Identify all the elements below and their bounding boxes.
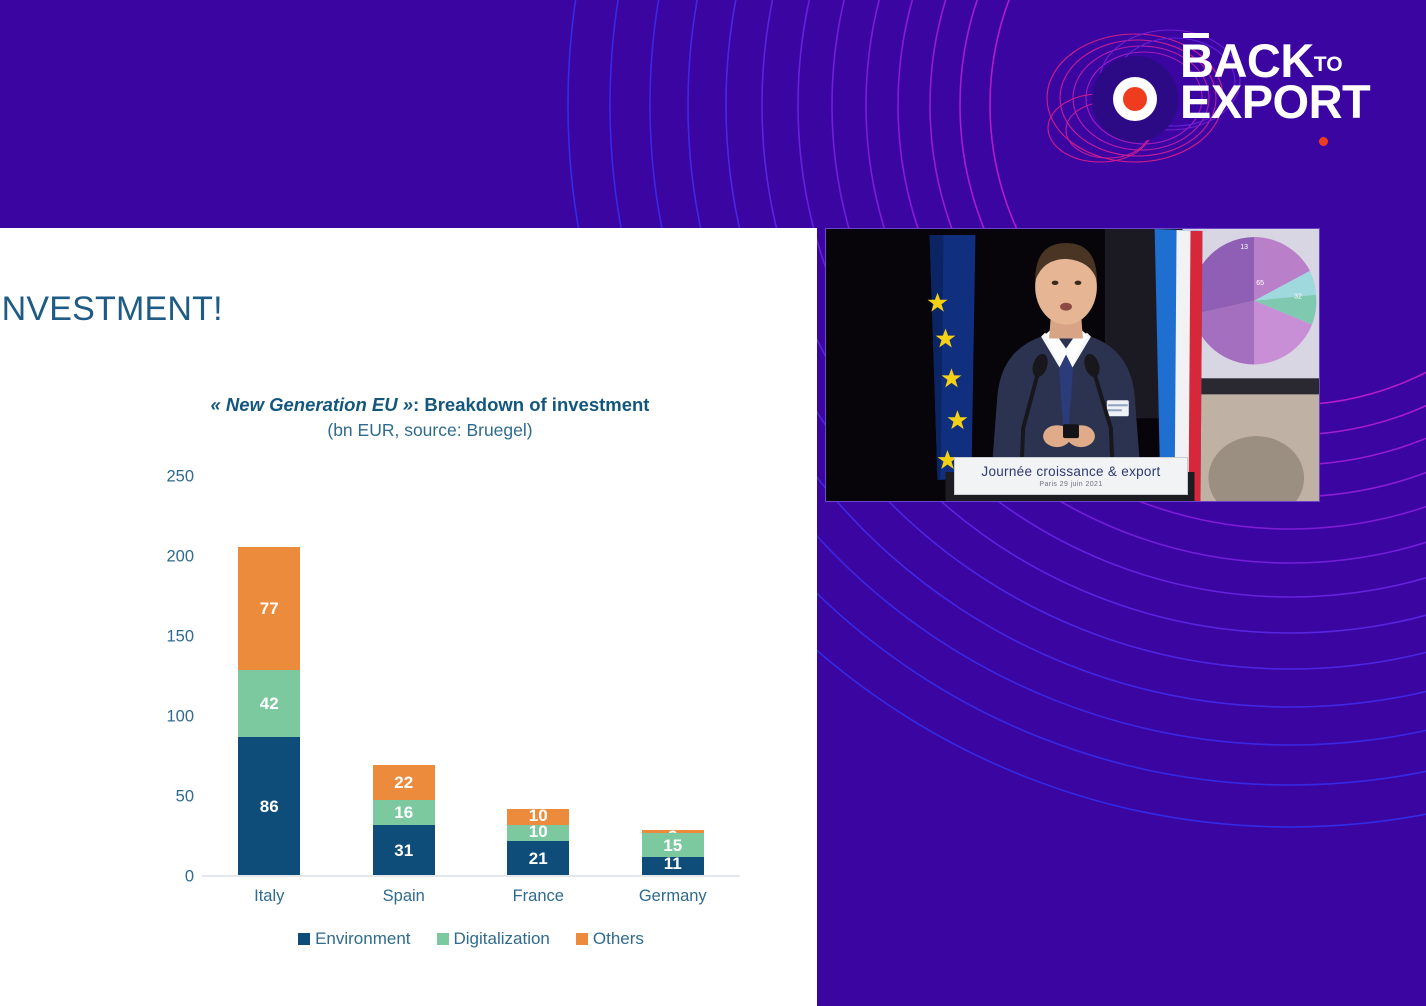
back-to-export-logo: BACKTO EXPORT [1020, 18, 1420, 178]
plot-area: 774286Italy221631Spain101021France21511G… [202, 477, 740, 877]
logo-target-ring [1113, 77, 1157, 121]
svg-text:32: 32 [1294, 294, 1302, 301]
bar-segment-others[interactable]: 77 [238, 547, 300, 670]
logo-target-dot [1123, 87, 1147, 111]
lectern-sign-title: Journée croissance & export [981, 464, 1160, 479]
bar-segment-digitalization[interactable]: 42 [238, 670, 300, 737]
bar-value-label: 21 [529, 850, 548, 867]
bar-value-label: 86 [260, 798, 279, 815]
presentation-slide: BACKTO EXPORT INVESTMENT! « New Generati… [0, 0, 1426, 1006]
legend-swatch [298, 933, 310, 945]
logo-target-icon [1092, 56, 1178, 142]
y-axis-tick-250: 250 [166, 467, 194, 486]
x-axis-label-spain: Spain [337, 887, 472, 906]
bar-value-label: 77 [260, 600, 279, 617]
stacked-bar[interactable]: 21511 [642, 830, 704, 875]
bar-value-label: 11 [664, 855, 682, 872]
y-axis-tick-200: 200 [166, 547, 194, 566]
x-axis-label-germany: Germany [606, 887, 741, 906]
bar-segment-environment[interactable]: 11 [642, 857, 704, 875]
bar-segment-environment[interactable]: 86 [238, 737, 300, 875]
y-axis: 250200150100500 [140, 477, 202, 877]
svg-text:13: 13 [1240, 244, 1248, 251]
x-axis-label-italy: Italy [202, 887, 337, 906]
logo-line-export: EXPORT [1180, 81, 1370, 122]
lectern-sign: Journée croissance & export Paris 29 jui… [954, 457, 1188, 495]
chart-subtitle: (bn EUR, source: Bruegel) [150, 420, 710, 441]
bar-group-italy: 774286Italy [202, 475, 337, 875]
chart-title-italic-part: « New Generation EU » [211, 394, 414, 415]
chart-title: « New Generation EU »: Breakdown of inve… [150, 393, 710, 418]
bar-segment-digitalization[interactable]: 10 [507, 825, 569, 841]
stacked-bar[interactable]: 101021 [507, 809, 569, 875]
conference-speaker-photo[interactable]: 13 65 32 [825, 228, 1320, 502]
bar-group-spain: 221631Spain [337, 475, 472, 875]
bar-segment-environment[interactable]: 21 [507, 841, 569, 875]
legend-item-digitalization[interactable]: Digitalization [437, 929, 550, 949]
legend-label: Digitalization [454, 929, 550, 949]
logo-text-export: EXPORT [1180, 75, 1370, 128]
page-title: INVESTMENT! [0, 290, 223, 329]
svg-text:65: 65 [1256, 280, 1264, 287]
bar-value-label: 31 [394, 842, 413, 859]
lectern-sign-subtitle: Paris 29 juin 2021 [1039, 481, 1102, 488]
y-axis-tick-100: 100 [166, 707, 194, 726]
bar-segment-environment[interactable]: 31 [373, 825, 435, 875]
stacked-bar[interactable]: 221631 [373, 765, 435, 875]
legend-item-others[interactable]: Others [576, 929, 644, 949]
bar-value-label: 15 [663, 837, 682, 854]
chart-legend: EnvironmentDigitalizationOthers [202, 929, 740, 949]
chart-title-rest-part: : Breakdown of investment [413, 394, 649, 415]
legend-label: Others [593, 929, 644, 949]
stacked-bar[interactable]: 774286 [238, 547, 300, 875]
legend-swatch [437, 933, 449, 945]
bar-value-label: 10 [529, 823, 548, 840]
bar-segment-digitalization[interactable]: 16 [373, 800, 435, 826]
chart-plot-wrapper: 250200150100500 774286Italy221631Spain10… [140, 477, 740, 877]
logo-text-to: TO [1314, 53, 1343, 76]
legend-swatch [576, 933, 588, 945]
y-axis-tick-150: 150 [166, 627, 194, 646]
bar-value-label: 22 [394, 774, 413, 791]
slide-content-panel: INVESTMENT! « New Generation EU »: Break… [0, 228, 817, 1006]
bar-group-germany: 21511Germany [606, 475, 741, 875]
y-axis-tick-50: 50 [176, 787, 194, 806]
bar-group-france: 101021France [471, 475, 606, 875]
bar-value-label: 16 [394, 804, 413, 821]
legend-item-environment[interactable]: Environment [298, 929, 410, 949]
x-axis-label-france: France [471, 887, 606, 906]
legend-label: Environment [315, 929, 410, 949]
logo-wordmark: BACKTO EXPORT [1180, 40, 1370, 123]
investment-breakdown-chart: « New Generation EU »: Breakdown of inve… [140, 393, 750, 993]
bar-value-label: 42 [260, 695, 279, 712]
bar-segment-others[interactable]: 22 [373, 765, 435, 800]
y-axis-tick-0: 0 [185, 867, 194, 886]
